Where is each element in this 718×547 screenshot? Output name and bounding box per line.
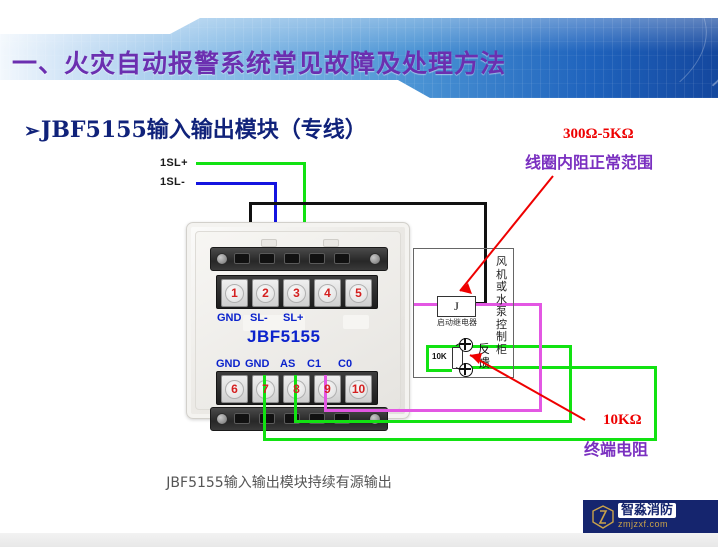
terminal-6-number: 6	[231, 383, 238, 395]
bullet-arrow-icon: ➢	[24, 120, 40, 142]
pin-label-gnd-7: GND	[245, 358, 269, 370]
terminal-4-number: 4	[324, 287, 331, 299]
module-upper-rail	[210, 247, 388, 271]
lower-rail-screw-left	[216, 413, 228, 425]
bottom-terminal-block: 6 7 8 9 10	[216, 371, 378, 405]
wire-green-mid-long	[294, 420, 572, 423]
section-subtitle: ➢JBF5155输入输出模块（专线）	[24, 112, 367, 144]
rail-slot-1	[234, 253, 250, 264]
terminal-10[interactable]: 10	[345, 375, 372, 403]
top-terminal-block: 1 2 3 4 5	[216, 275, 378, 309]
label-1sl-plus: 1SL+	[160, 157, 188, 169]
annotation-terminal-resistor-value: 10KΩ	[603, 412, 642, 429]
wire-green-right-up	[654, 366, 657, 441]
lower-rail-slot-1	[234, 413, 250, 424]
subtitle-text: JBF5155输入输出模块（专线）	[41, 117, 367, 143]
terminal-4[interactable]: 4	[314, 279, 341, 307]
pin-label-c1: C1	[307, 358, 321, 370]
rail-screw-left	[216, 253, 228, 265]
feedback-terminal-lower	[459, 363, 473, 377]
terminal-6[interactable]: 6	[221, 375, 248, 403]
rail-slot-3	[284, 253, 300, 264]
annotation-terminal-resistor-note: 终端电阻	[584, 436, 648, 460]
wire-green-horizontal-top	[196, 162, 306, 165]
figure-caption: JBF5155输入输出模块持续有源输出	[0, 472, 558, 492]
terminal-2[interactable]: 2	[252, 279, 279, 307]
terminal-9[interactable]: 9	[314, 375, 341, 403]
rail-screw-right	[369, 253, 381, 265]
pin-label-sl-plus: SL+	[283, 312, 303, 324]
label-1sl-minus: 1SL-	[160, 176, 185, 188]
pin-label-as: AS	[280, 358, 295, 370]
slide-canvas: 一、火灾自动报警系统常见故障及处理方法 ➢JBF5155输入输出模块（专线） 1…	[0, 0, 718, 547]
terminal-2-number: 2	[262, 287, 269, 299]
terminal-7-number: 7	[262, 383, 269, 395]
jbf5155-module: 1 2 3 4 5 GND SL- SL+ JBF5155 GND GND AS…	[186, 222, 410, 419]
terminal-1-number: 1	[231, 287, 238, 299]
feedback-label: 反馈	[478, 342, 493, 370]
footer-brand-name: 智淼消防	[618, 503, 676, 518]
wire-green-mid-up	[569, 345, 572, 423]
pin-label-sl-minus: SL-	[250, 312, 268, 324]
feedback-terminal-upper	[459, 338, 473, 352]
footer: 智淼消防 zmjzxf.com	[0, 500, 718, 547]
relay-letter: J	[454, 299, 459, 314]
wire-magenta-up-right	[539, 306, 542, 412]
pin-label-gnd-6: GND	[216, 358, 240, 370]
wire-magenta-horizontal	[324, 409, 542, 412]
shield-logo-icon	[591, 505, 615, 529]
module-clip-top-left	[261, 239, 277, 247]
terminal-3[interactable]: 3	[283, 279, 310, 307]
wire-blue-horizontal-top	[196, 182, 277, 185]
terminal-1[interactable]: 1	[221, 279, 248, 307]
rail-slot-4	[309, 253, 325, 264]
terminal-10-number: 10	[352, 383, 365, 395]
lower-rail-screw-right	[369, 413, 381, 425]
cabinet-vertical-label: 风机或水泵控制柜	[495, 256, 508, 356]
pin-label-gnd-top: GND	[217, 312, 241, 324]
banner-notch-top-left	[0, 18, 200, 34]
rail-slot-5	[334, 253, 350, 264]
start-relay-symbol: J	[437, 296, 476, 317]
footer-brand-url: zmjzxf.com	[618, 519, 668, 529]
footer-logo-bar: 智淼消防 zmjzxf.com	[583, 500, 718, 533]
module-clip-top-right	[323, 239, 339, 247]
module-brand-label: JBF5155	[247, 327, 320, 347]
annotation-coil-resistance-note: 线圈内阻正常范围	[525, 149, 653, 173]
terminal-8-number: 8	[293, 383, 300, 395]
rail-slot-2	[259, 253, 275, 264]
module-sticker-right	[343, 315, 369, 329]
terminal-5[interactable]: 5	[345, 279, 372, 307]
terminal-5-number: 5	[355, 287, 362, 299]
wire-black-horizontal-top	[249, 202, 487, 205]
pin-label-c0: C0	[338, 358, 352, 370]
terminal-9-number: 9	[324, 383, 331, 395]
footer-bottom-strip	[0, 533, 718, 547]
banner-notch-bottom-left	[0, 80, 430, 98]
start-relay-label: 启动继电器	[424, 317, 490, 328]
lower-rail-slot-2	[259, 413, 275, 424]
terminal-3-number: 3	[293, 287, 300, 299]
page-title: 一、火灾自动报警系统常见故障及处理方法	[12, 44, 506, 80]
annotation-coil-resistance-value: 300Ω-5KΩ	[563, 126, 634, 143]
resistor-10k-label: 10K	[432, 352, 447, 361]
